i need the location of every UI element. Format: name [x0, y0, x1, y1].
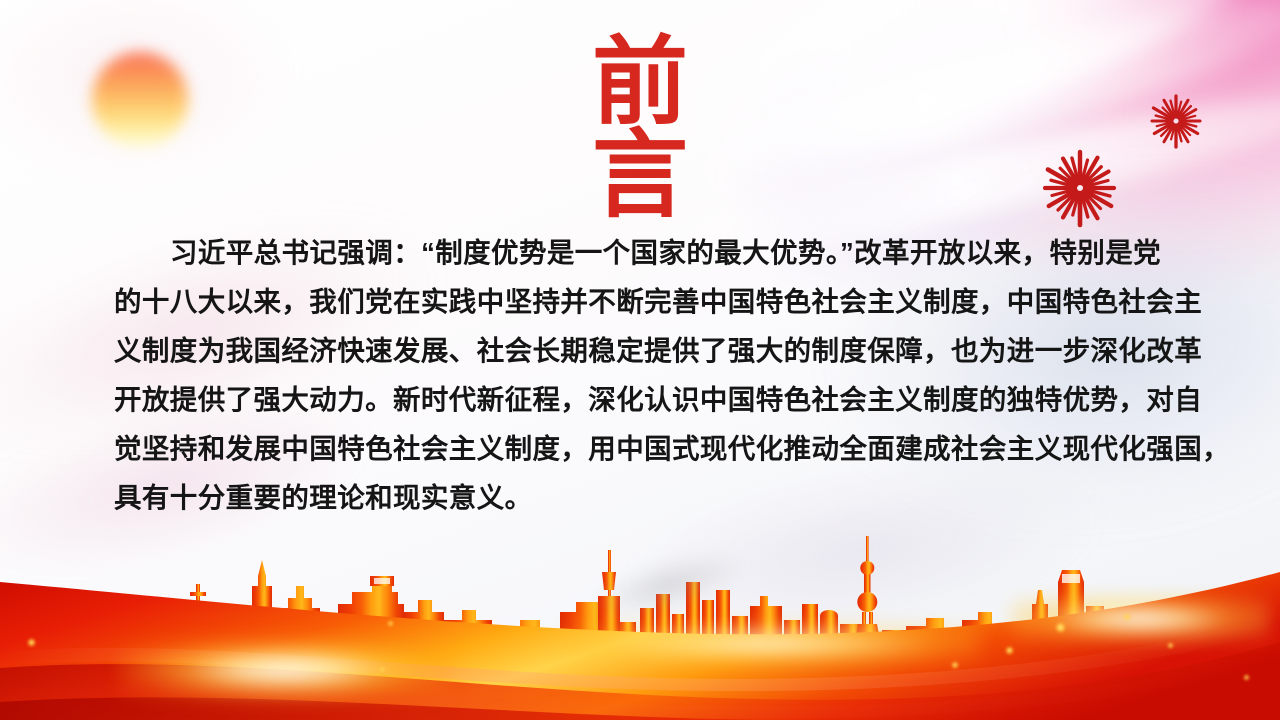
bottom-ribbon-graphic — [0, 520, 1280, 720]
body-line: 具有十分重要的理论和现实意义。 — [114, 473, 1176, 522]
body-line: 觉坚持和发展中国特色社会主义制度，用中国式现代化推动全面建成社会主义现代化强国， — [114, 424, 1176, 473]
body-line: 的十八大以来，我们党在实践中坚持并不断完善中国特色社会主义制度，中国特色社会主 — [114, 277, 1176, 326]
firework-large-icon — [1032, 140, 1128, 236]
preface-paragraph: 习近平总书记强调：“制度优势是一个国家的最大优势。”改革开放以来，特别是党 的十… — [114, 228, 1176, 522]
firework-small-icon — [1143, 88, 1209, 154]
body-line: 开放提供了强大动力。新时代新征程，深化认识中国特色社会主义制度的独特优势，对自 — [114, 375, 1176, 424]
body-line: 义制度为我国经济快速发展、社会长期稳定提供了强大的制度保障，也为进一步深化改革 — [114, 326, 1176, 375]
slide-canvas: 前 言 习近平总书记强调：“制度优势是一个国家的最大优势。”改革开放以来，特别是… — [0, 0, 1280, 720]
oriental-pearl-tower — [855, 536, 880, 640]
body-line: 习近平总书记强调：“制度优势是一个国家的最大优势。”改革开放以来，特别是党 — [114, 228, 1176, 277]
sun-icon — [92, 52, 188, 148]
